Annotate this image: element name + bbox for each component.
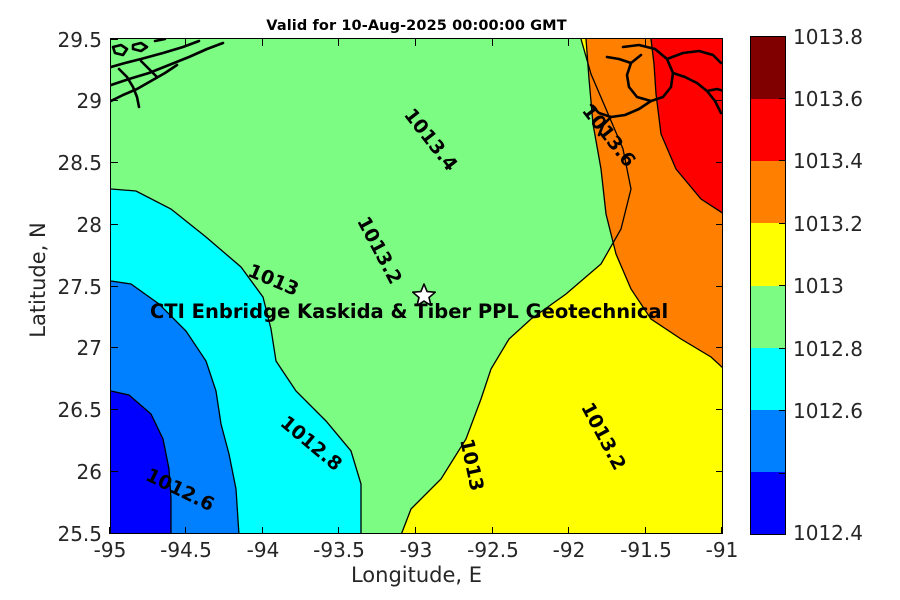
ytick-mark-right <box>716 162 723 163</box>
ytick-mark <box>111 533 118 534</box>
xtick-mark <box>185 527 186 534</box>
xtick-mark-top <box>415 39 416 46</box>
xtick-mark-top <box>492 39 493 46</box>
cbar-tick <box>779 160 786 161</box>
y-axis-title: Latitude, N <box>26 170 50 390</box>
cbar-tick <box>779 98 786 99</box>
site-annotation-label: CTI Enbridge Kaskida & Tiber PPL Geotech… <box>150 300 668 323</box>
xtick-mark <box>338 527 339 534</box>
xtick-mark-top <box>568 39 569 46</box>
cbar-band-1012.6-1012.8 <box>751 348 785 410</box>
ytick-label: 29.5 <box>6 28 102 52</box>
xtick-mark <box>645 527 646 534</box>
ytick-mark-right <box>716 347 723 348</box>
xtick-label: -94.5 <box>160 538 212 562</box>
cbar-label: 1013.2 <box>793 212 863 236</box>
ytick-mark-right <box>716 471 723 472</box>
cbar-band-1012.4-1012.5 <box>751 472 785 534</box>
ytick-label: 28.5 <box>6 151 102 175</box>
ytick-mark-right <box>716 409 723 410</box>
contour-map <box>111 39 723 534</box>
ytick-label: 26 <box>6 460 102 484</box>
plot-area[interactable] <box>110 38 723 534</box>
ytick-mark <box>111 286 118 287</box>
figure-root: Valid for 10-Aug-2025 00:00:00 GMT <box>0 0 900 600</box>
xtick-label: -92.5 <box>467 538 519 562</box>
ytick-mark-right <box>716 286 723 287</box>
ytick-mark <box>111 471 118 472</box>
cbar-tick <box>779 223 786 224</box>
ytick-label: 28 <box>6 213 102 237</box>
cbar-band-1013.6-1013.8 <box>751 37 785 99</box>
xtick-label: -93.5 <box>313 538 365 562</box>
ytick-mark-right <box>716 224 723 225</box>
cbar-tick <box>779 410 786 411</box>
cbar-label: 1013.6 <box>793 87 863 111</box>
xtick-mark-top <box>262 39 263 46</box>
ytick-mark-right <box>716 100 723 101</box>
cbar-band-1013.4-1013.6 <box>751 99 785 161</box>
xtick-mark <box>492 527 493 534</box>
cbar-label: 1012.6 <box>793 399 863 423</box>
chart-title: Valid for 10-Aug-2025 00:00:00 GMT <box>110 18 723 34</box>
cbar-tick <box>779 348 786 349</box>
xtick-mark-top <box>338 39 339 46</box>
cbar-label: 1013.8 <box>793 25 863 49</box>
cbar-tick <box>779 285 786 286</box>
cbar-label: 1013.4 <box>793 149 863 173</box>
ytick-label: 25.5 <box>6 522 102 546</box>
ytick-label: 27 <box>6 336 102 360</box>
ytick-mark <box>111 39 118 40</box>
xtick-mark-top <box>645 39 646 46</box>
xtick-label: -92 <box>553 538 586 562</box>
ytick-mark <box>111 100 118 101</box>
xtick-mark <box>721 527 722 534</box>
xtick-label: -94 <box>247 538 280 562</box>
xtick-mark <box>415 527 416 534</box>
xtick-label: -93 <box>400 538 433 562</box>
cbar-label: 1013 <box>793 274 844 298</box>
cbar-label: 1012.4 <box>793 521 863 545</box>
xtick-label: -91.5 <box>620 538 672 562</box>
ytick-mark <box>111 224 118 225</box>
cbar-band-1013.2-1013.4 <box>751 161 785 223</box>
ytick-mark <box>111 347 118 348</box>
cbar-band-1013.0-1013.2 <box>751 223 785 285</box>
cbar-band-1012.8-1013.0 <box>751 286 785 348</box>
cbar-band-1012.5-1012.6 <box>751 410 785 472</box>
xtick-label: -91 <box>706 538 739 562</box>
x-axis-title: Longitude, E <box>110 563 723 587</box>
ytick-label: 26.5 <box>6 398 102 422</box>
xtick-mark <box>262 527 263 534</box>
cbar-tick <box>779 473 786 474</box>
xtick-mark <box>568 527 569 534</box>
ytick-mark <box>111 409 118 410</box>
cbar-label: 1012.8 <box>793 337 863 361</box>
ytick-label: 27.5 <box>6 275 102 299</box>
ytick-label: 29 <box>6 89 102 113</box>
xtick-mark-top <box>185 39 186 46</box>
ytick-mark <box>111 162 118 163</box>
